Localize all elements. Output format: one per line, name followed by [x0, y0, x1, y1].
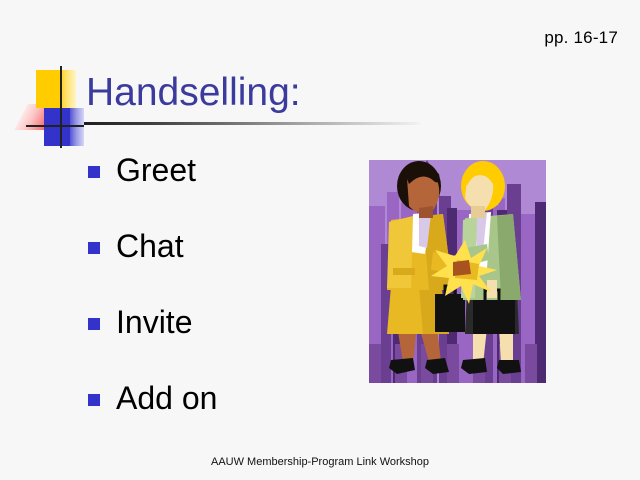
bullet-square-icon	[88, 242, 100, 254]
bullet-label: Invite	[116, 302, 192, 342]
logo-horizontal-line	[26, 125, 84, 127]
logo-yellow-gradient	[62, 70, 76, 108]
logo-yellow-square	[36, 70, 62, 108]
bullet-label: Greet	[116, 150, 196, 190]
bullet-label: Add on	[116, 378, 217, 418]
slide-canvas: pp. 16-17 Handselling: Greet Chat Invite…	[0, 0, 640, 480]
page-reference: pp. 16-17	[544, 28, 618, 48]
logo-vertical-line	[60, 66, 62, 148]
logo-blue-square	[44, 108, 70, 146]
bullet-label: Chat	[116, 226, 184, 266]
businesswomen-handshake-clipart	[361, 148, 546, 383]
list-item[interactable]: Greet	[88, 150, 348, 226]
handshake-illustration	[361, 148, 546, 383]
list-item[interactable]: Add on	[88, 378, 348, 454]
slide-footer: AAUW Membership-Program Link Workshop	[0, 456, 640, 468]
bullet-square-icon	[88, 166, 100, 178]
slide-title: Handselling:	[86, 71, 301, 115]
bullet-list: Greet Chat Invite Add on	[88, 150, 348, 454]
title-underline-rule	[84, 122, 420, 125]
bullet-square-icon	[88, 394, 100, 406]
bullet-square-icon	[88, 318, 100, 330]
logo-blue-gradient	[70, 108, 84, 146]
list-item[interactable]: Invite	[88, 302, 348, 378]
list-item[interactable]: Chat	[88, 226, 348, 302]
decorative-blocks-logo	[14, 66, 86, 148]
